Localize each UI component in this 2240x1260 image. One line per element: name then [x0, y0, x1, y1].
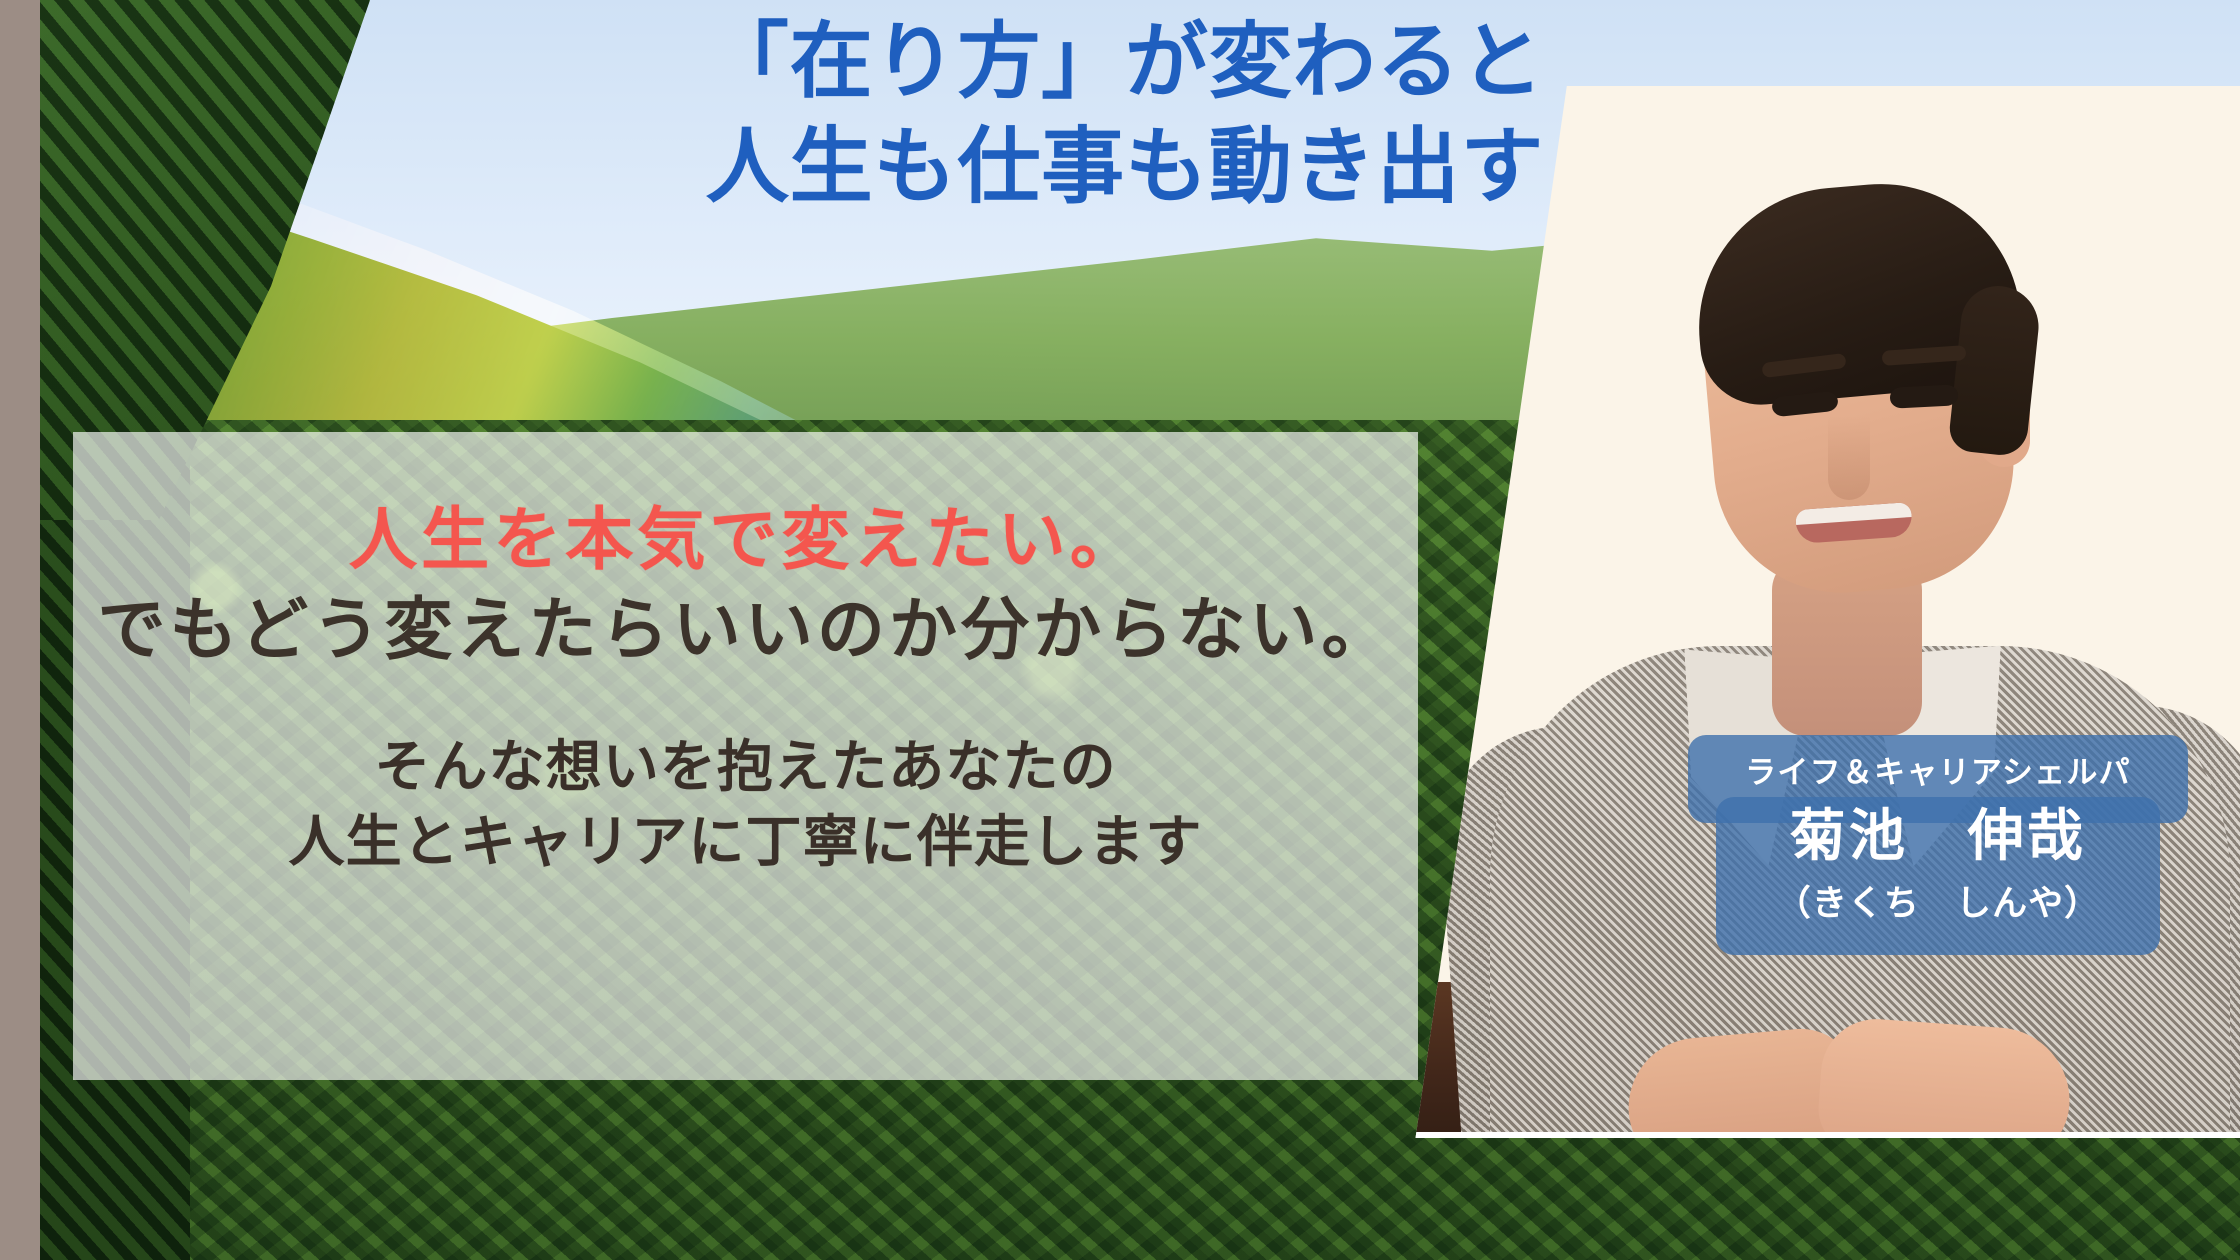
badge-name-reading: （きくち しんや） — [1688, 864, 2188, 921]
badge-name: 菊池 伸哉 — [1688, 788, 2188, 864]
name-badge: ライフ＆キャリアシェルパ 菊池 伸哉 （きくち しんや） — [1688, 735, 2188, 955]
eye-right — [1889, 384, 1958, 409]
pain-statement-secondary: でもどう変えたらいいのか分からない。 — [73, 590, 1418, 670]
headline-line-1: 「在り方」が変わると — [560, 10, 1690, 115]
supporting-message-line-2: 人生とキャリアに丁寧に伴走します — [73, 805, 1418, 879]
message-panel: 人生を本気で変えたい。 でもどう変えたらいいのか分からない。 そんな想いを抱えた… — [73, 432, 1418, 1080]
headline-line-2: 人生も仕事も動き出す — [560, 115, 1690, 220]
banner-canvas: 「在り方」が変わると 人生も仕事も動き出す 人生を本気で変えたい。 でもどう変え… — [0, 0, 2240, 1260]
pain-statement-highlight: 人生を本気で変えたい。 — [73, 500, 1418, 580]
badge-role: ライフ＆キャリアシェルパ — [1688, 735, 2188, 788]
page-title: 「在り方」が変わると 人生も仕事も動き出す — [560, 10, 1690, 219]
left-edge-strip — [0, 0, 40, 1260]
supporting-message-line-1: そんな想いを抱えたあなたの — [73, 730, 1418, 804]
supporting-message: そんな想いを抱えたあなたの 人生とキャリアに丁寧に伴走します — [73, 730, 1418, 879]
nose — [1828, 416, 1870, 500]
badge-text-group: ライフ＆キャリアシェルパ 菊池 伸哉 （きくち しんや） — [1688, 735, 2188, 955]
